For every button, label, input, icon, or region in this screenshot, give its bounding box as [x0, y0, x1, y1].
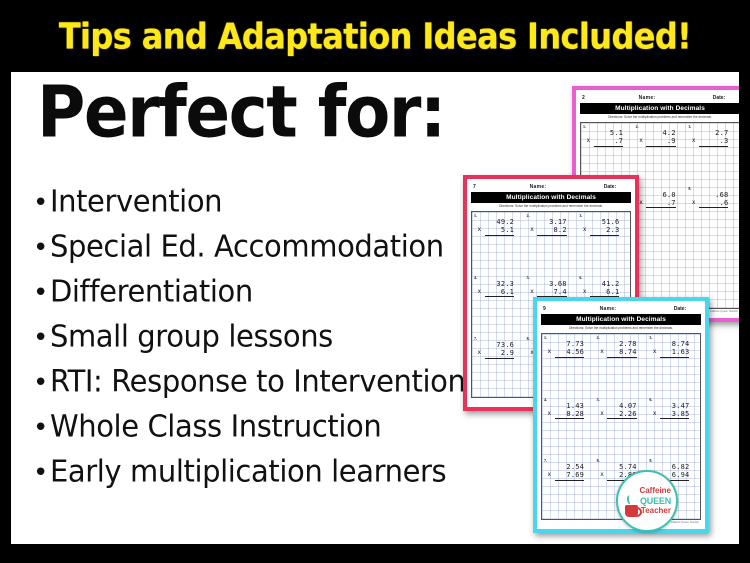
name-field-label: Name:: [557, 306, 659, 312]
worksheet-directions: Directions: Solve the multiplication pro…: [541, 325, 701, 332]
bullet-dot-icon: •: [33, 190, 48, 216]
multiply-operator-icon: x: [600, 471, 604, 479]
problem-number: 8.: [597, 458, 600, 463]
logo-line-2: QUEEN: [640, 496, 671, 506]
problem-stack: 32.3x6.1: [485, 280, 515, 298]
problem-multiplier-row: x1.63: [660, 348, 690, 358]
problem-multiplier: .7: [667, 199, 676, 207]
worksheet-page-number: 9: [541, 306, 557, 312]
problem-cell: 2.3.17x8.2: [525, 212, 578, 274]
problem-cell: 4.32.3x6.1: [472, 274, 525, 336]
problem-multiplier-row: x5.1: [485, 226, 515, 236]
problem-cell: 3.8.74x1.63: [647, 334, 700, 396]
multiply-operator-icon: x: [478, 349, 482, 357]
problem-stack: 51.6x2.3: [590, 218, 620, 236]
problem-cell: 7.73.6x2.9: [472, 335, 525, 397]
problem-stack: 6.0x.7: [646, 191, 676, 209]
problem-stack: 1.43x8.28: [555, 402, 585, 420]
problem-multiplier: 3.85: [672, 410, 690, 418]
problem-stack: 2.78x8.74: [607, 340, 637, 358]
problem-multiplicand: 3.68: [537, 280, 567, 288]
content-panel: Perfect for: •Intervention•Special Ed. A…: [11, 72, 739, 544]
problem-number: 2.: [527, 213, 530, 218]
problem-multiplier: 7.69: [566, 471, 584, 479]
problem-stack: 73.6x2.9: [485, 341, 515, 359]
problem-multiplier-row: x2.3: [590, 226, 620, 236]
problem-stack: 7.73x4.56: [555, 340, 585, 358]
multiply-operator-icon: x: [583, 288, 587, 296]
list-item-label: Special Ed. Accommodation: [50, 228, 444, 264]
problem-cell: 2.4.2x.9: [634, 123, 687, 185]
worksheet-directions: Directions: Solve the multiplication pro…: [580, 114, 739, 121]
name-field-label: Name:: [487, 184, 589, 190]
problem-multiplier: 8.2: [553, 226, 566, 234]
problem-stack: 49.2x5.1: [485, 218, 515, 236]
bullet-dot-icon: •: [33, 325, 48, 351]
problem-number: 9.: [649, 458, 652, 463]
problem-multiplier: 2.3: [606, 226, 619, 234]
problem-multiplier-row: x6.1: [485, 288, 515, 298]
date-field-label: Date:: [589, 184, 631, 190]
problem-number: 6.: [649, 397, 652, 402]
problem-stack: 2.54x7.69: [555, 463, 585, 481]
problem-multiplier: 4.56: [566, 348, 584, 356]
multiply-operator-icon: x: [530, 288, 534, 296]
worksheet-directions: Directions: Solve the multiplication pro…: [471, 203, 631, 210]
problem-stack: 3.17x8.2: [537, 218, 567, 236]
problem-cell: 1.49.2x5.1: [472, 212, 525, 274]
steam-icon: [626, 494, 635, 504]
problem-stack: .68x.6: [699, 191, 729, 209]
problem-multiplier-row: x.3: [699, 137, 729, 147]
problem-multiplier-row: x2.26: [607, 410, 637, 420]
problem-number: 2.: [597, 335, 600, 340]
worksheet-header-row: 2Name:Date:: [580, 93, 739, 102]
problem-multiplier: 7.4: [553, 288, 566, 296]
problem-multiplicand: 6.82: [660, 463, 690, 471]
problem-multiplier-row: x.6: [699, 199, 729, 209]
worksheet-page-number: 7: [471, 184, 487, 190]
problem-multiplier-row: x7.69: [555, 471, 585, 481]
multiply-operator-icon: x: [583, 226, 587, 234]
logo-line-3: Teacher: [641, 506, 671, 516]
problem-number: 3.: [579, 213, 582, 218]
problem-multiplicand: .68: [699, 191, 729, 199]
problem-multiplicand: 32.3: [485, 280, 515, 288]
list-item-label: Intervention: [50, 183, 222, 219]
problem-number: 5.: [527, 275, 530, 280]
multiply-operator-icon: x: [548, 348, 552, 356]
problem-multiplier: .3: [720, 137, 729, 145]
list-item: •Special Ed. Accommodation: [33, 229, 503, 274]
worksheet-header-row: 9Name:Date:: [541, 304, 701, 313]
problem-number: 4.: [474, 275, 477, 280]
bullet-dot-icon: •: [33, 460, 48, 486]
problem-number: 1.: [583, 124, 586, 129]
multiply-operator-icon: x: [600, 410, 604, 418]
multiply-operator-icon: x: [587, 137, 591, 145]
top-banner: Tips and Adaptation Ideas Included!: [0, 0, 750, 72]
problem-multiplicand: 2.7: [699, 129, 729, 137]
problem-cell: 6.6.0x.7: [634, 185, 687, 247]
benefits-list: •Intervention•Special Ed. Accommodation•…: [33, 184, 503, 499]
problem-multiplicand: 1.43: [555, 402, 585, 410]
problem-cell: 7.2.54x7.69: [542, 457, 595, 519]
problem-multiplicand: 51.6: [590, 218, 620, 226]
problem-number: 8.: [527, 336, 530, 341]
problem-cell: 2.2.78x8.74: [595, 334, 648, 396]
problem-multiplicand: 7.73: [555, 340, 585, 348]
problem-multiplier-row: x.7: [646, 199, 676, 209]
date-field-label: Date:: [659, 306, 701, 312]
problem-multiplicand: 3.47: [660, 402, 690, 410]
problem-multiplier: 6.1: [501, 288, 514, 296]
problem-number: 7.: [544, 458, 547, 463]
problem-multiplier: .6: [720, 199, 729, 207]
problem-number: 4.: [544, 397, 547, 402]
problem-number: 5.: [597, 397, 600, 402]
problem-stack: 8.74x1.63: [660, 340, 690, 358]
problem-multiplicand: 4.07: [607, 402, 637, 410]
problem-multiplier-row: x8.2: [537, 226, 567, 236]
multiply-operator-icon: x: [639, 137, 643, 145]
multiply-operator-icon: x: [478, 288, 482, 296]
brand-logo: Caffeine QUEEN Teacher: [616, 470, 678, 532]
problem-cell: 3.51.6x2.3: [577, 212, 630, 274]
multiply-operator-icon: x: [600, 348, 604, 356]
problem-number: 2.: [636, 124, 639, 129]
problem-multiplier: 8.74: [619, 348, 637, 356]
problem-multiplier-row: x2.9: [485, 349, 515, 359]
bullet-dot-icon: •: [33, 280, 48, 306]
problem-number: 7.: [474, 336, 477, 341]
problem-multiplier-row: x6.1: [590, 288, 620, 298]
bullet-dot-icon: •: [33, 235, 48, 261]
list-item: •Small group lessons: [33, 319, 503, 364]
problem-cell: 5.4.07x2.26: [595, 396, 648, 458]
multiply-operator-icon: x: [692, 199, 696, 207]
problem-stack: 4.2x.9: [646, 129, 676, 147]
name-field-label: Name:: [596, 95, 698, 101]
problem-number: 3.: [649, 335, 652, 340]
problem-number: 8.: [688, 186, 691, 191]
problem-stack: 3.47x3.85: [660, 402, 690, 420]
problem-stack: 2.7x.3: [699, 129, 729, 147]
problem-multiplier-row: x7.4: [537, 288, 567, 298]
problem-multiplier-row: x.7: [594, 137, 624, 147]
problem-multiplicand: 5.1: [594, 129, 624, 137]
problem-multiplier-row: x8.28: [555, 410, 585, 420]
problem-multiplier: 1.63: [672, 348, 690, 356]
problem-stack: 41.2x6.1: [590, 280, 620, 298]
bullet-dot-icon: •: [33, 370, 48, 396]
multiply-operator-icon: x: [530, 226, 534, 234]
problem-multiplicand: 5.74: [607, 463, 637, 471]
bullet-dot-icon: •: [33, 415, 48, 441]
list-item: •Differentiation: [33, 274, 503, 319]
problem-multiplicand: 6.0: [646, 191, 676, 199]
problem-multiplicand: 8.74: [660, 340, 690, 348]
worksheet-title: Multiplication with Decimals: [580, 103, 739, 114]
problem-multiplicand: 4.2: [646, 129, 676, 137]
multiply-operator-icon: x: [639, 199, 643, 207]
problem-stack: 3.68x7.4: [537, 280, 567, 298]
worksheet-title: Multiplication with Decimals: [541, 314, 701, 325]
list-item: •Intervention: [33, 184, 503, 229]
problem-cell: 6.3.47x3.85: [647, 396, 700, 458]
problem-cell: 3.2.7x.3: [686, 123, 739, 185]
multiply-operator-icon: x: [653, 348, 657, 356]
problem-multiplier-row: x4.56: [555, 348, 585, 358]
problem-multiplicand: 2.78: [607, 340, 637, 348]
problem-multiplier: .9: [667, 137, 676, 145]
problem-multiplier-row: x3.85: [660, 410, 690, 420]
date-field-label: Date:: [698, 95, 739, 101]
problem-cell: 4.1.43x8.28: [542, 396, 595, 458]
problem-multiplicand: 73.6: [485, 341, 515, 349]
problem-number: 3.: [688, 124, 691, 129]
problem-multiplicand: 3.17: [537, 218, 567, 226]
problem-stack: 5.1x.7: [594, 129, 624, 147]
list-item: •RTI: Response to Intervention: [33, 364, 503, 409]
logo-line-1: Caffeine: [639, 486, 671, 496]
banner-headline: Tips and Adaptation Ideas Included!: [59, 15, 691, 58]
multiply-operator-icon: x: [478, 226, 482, 234]
list-item-label: Whole Class Instruction: [50, 408, 381, 444]
problem-number: 6.: [579, 275, 582, 280]
problem-stack: 4.07x2.26: [607, 402, 637, 420]
problem-multiplier: 5.1: [501, 226, 514, 234]
problem-multiplier: 6.1: [606, 288, 619, 296]
list-item: •Whole Class Instruction: [33, 409, 503, 454]
multiply-operator-icon: x: [692, 137, 696, 145]
list-item: •Early multiplication learners: [33, 454, 503, 499]
multiply-operator-icon: x: [548, 410, 552, 418]
problem-number: 1.: [544, 335, 547, 340]
multiply-operator-icon: x: [653, 410, 657, 418]
problem-multiplier: 2.26: [619, 410, 637, 418]
problem-multiplier: 2.9: [501, 349, 514, 357]
coffee-cup-icon: [625, 505, 638, 517]
problem-cell: 8..68x.6: [686, 185, 739, 247]
list-item-label: Small group lessons: [50, 318, 333, 354]
worksheet-header-row: 7Name:Date:: [471, 182, 631, 191]
multiply-operator-icon: x: [548, 471, 552, 479]
problem-multiplicand: 41.2: [590, 280, 620, 288]
problem-multiplier: .7: [614, 137, 623, 145]
problem-multiplicand: 49.2: [485, 218, 515, 226]
problem-number: 1.: [474, 213, 477, 218]
worksheet-title: Multiplication with Decimals: [471, 192, 631, 203]
problem-cell: 1.7.73x4.56: [542, 334, 595, 396]
problem-multiplicand: 2.54: [555, 463, 585, 471]
list-item-label: Early multiplication learners: [50, 453, 446, 489]
problem-multiplier-row: x.9: [646, 137, 676, 147]
problem-multiplier-row: x8.74: [607, 348, 637, 358]
page-title: Perfect for:: [37, 74, 445, 152]
worksheet-page-number: 2: [580, 95, 596, 101]
list-item-label: RTI: Response to Intervention: [50, 363, 466, 399]
list-item-label: Differentiation: [50, 273, 253, 309]
problem-multiplier: 8.28: [566, 410, 584, 418]
